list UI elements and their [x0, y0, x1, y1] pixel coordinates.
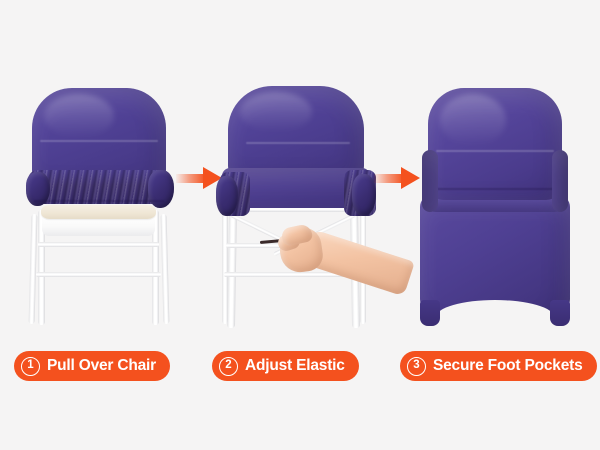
cover-gather-knot-right: [148, 170, 174, 208]
chair-cover-foot-pocket-left: [420, 300, 440, 326]
cover-gather-knot-right: [352, 174, 376, 216]
chair-seat-pad: [41, 205, 156, 219]
step-2-panel: [200, 0, 400, 345]
chair-leg-rear-left: [29, 214, 38, 324]
cover-seam-seat: [432, 188, 558, 190]
step-2-number-badge: 2: [219, 357, 238, 376]
step-1-caption-pill[interactable]: 1 Pull Over Chair: [14, 351, 170, 381]
cover-seam-backrest: [436, 150, 554, 152]
cover-seam-line: [40, 140, 158, 142]
cover-seam-line: [246, 142, 350, 144]
chair-leg-rear-right: [161, 214, 170, 324]
chair-illustration-step-1: [0, 0, 200, 345]
chair-crossbar-lower: [36, 272, 161, 277]
chair-leg-front-left: [227, 208, 237, 328]
chair-illustration-step-2: [200, 0, 400, 345]
step-2-label: Adjust Elastic: [245, 357, 345, 375]
instructional-infographic: 1 Pull Over Chair 2 Adjust Elastic 3 Sec…: [0, 0, 600, 450]
cover-gather-knot-left: [216, 176, 238, 216]
step-3-panel: [400, 0, 600, 345]
step-3-caption-pill[interactable]: 3 Secure Foot Pockets: [400, 351, 597, 381]
chair-cover-foot-pocket-right: [550, 300, 570, 326]
cover-gather-shadow: [34, 200, 164, 202]
chair-illustration-step-3: [400, 0, 600, 345]
step-1-label: Pull Over Chair: [47, 357, 156, 375]
step-3-label: Secure Foot Pockets: [433, 357, 583, 375]
chair-cover-hem-scoop: [436, 300, 554, 334]
chair-cover-backrest: [228, 86, 364, 176]
step-1-number-badge: 1: [21, 357, 40, 376]
chair-crossbar-upper: [38, 242, 159, 247]
step-2-caption-pill[interactable]: 2 Adjust Elastic: [212, 351, 359, 381]
chair-cover-side-left: [422, 150, 438, 212]
step-3-number-badge: 3: [407, 357, 426, 376]
chair-cover-side-right: [552, 150, 568, 212]
chair-leg-rear-left: [222, 212, 228, 324]
step-1-panel: [0, 0, 200, 345]
chair-cover-backrest: [428, 88, 562, 200]
